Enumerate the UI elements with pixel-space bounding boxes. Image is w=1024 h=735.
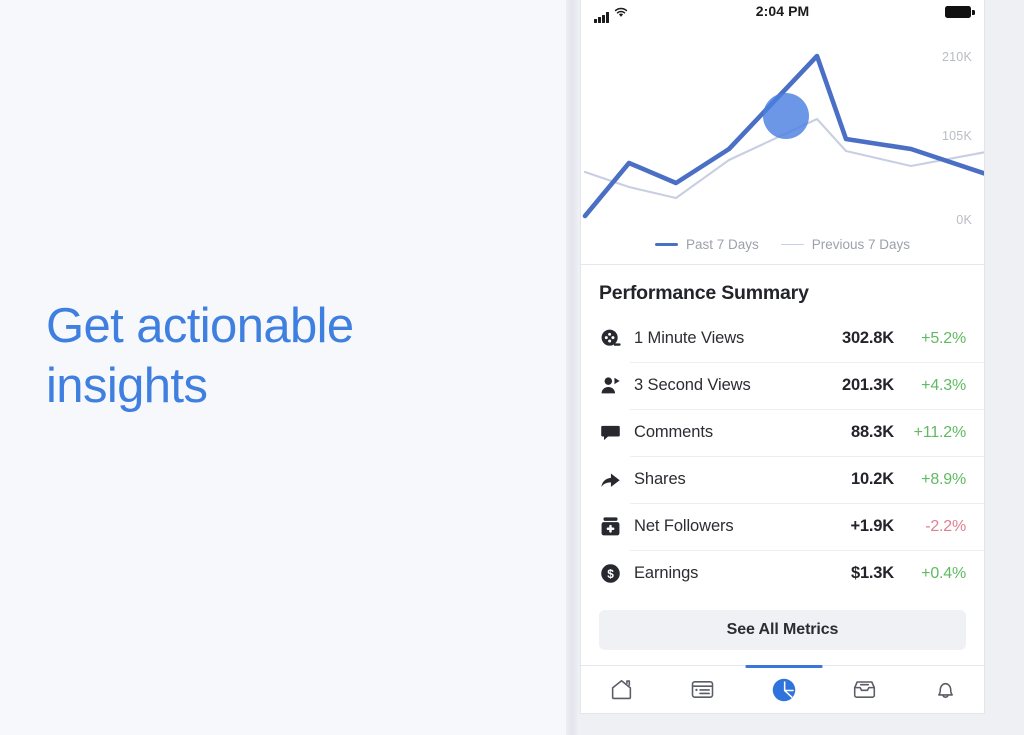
battery-full-icon [945,6,971,18]
chart-point-marker [763,93,809,139]
legend-swatch-past-icon [655,243,678,247]
status-bar-time: 2:04 PM [581,3,984,19]
chart-ylabel-bottom: 0K [956,213,972,227]
person-play-icon [599,375,621,397]
panel-divider [566,0,580,735]
bell-icon [933,677,958,702]
status-bar: 2:04 PM [581,0,984,24]
share-arrow-icon [599,469,621,491]
legend-label-past: Past 7 Days [686,237,759,252]
chart-plot [581,24,985,239]
metric-delta: +11.2% [904,424,966,442]
add-follower-icon [599,516,621,538]
news-feed-icon [690,677,715,702]
phone-preview-panel: 2:04 PM 210K 105K 0K [580,0,1024,735]
chart-legend: Past 7 Days Previous 7 Days [581,237,984,252]
metric-value: 302.8K [822,329,894,348]
legend-item-past[interactable]: Past 7 Days [655,237,759,252]
table-row[interactable]: Shares 10.2K +8.9% [599,456,966,503]
see-all-metrics-button[interactable]: See All Metrics [599,610,966,650]
metric-label: Net Followers [634,517,822,536]
metric-label: 3 Second Views [634,376,822,395]
legend-swatch-previous-icon [781,244,804,246]
nav-notifications[interactable] [905,666,985,714]
insights-icon [771,677,797,703]
metric-delta: +0.4% [904,565,966,583]
comment-icon [599,422,621,444]
metric-label: Comments [634,423,822,442]
metric-value: 10.2K [822,470,894,489]
metric-delta: +8.9% [904,471,966,489]
metric-value: $1.3K [822,564,894,583]
metric-delta: +4.3% [904,377,966,395]
nav-home[interactable] [581,666,662,714]
legend-item-previous[interactable]: Previous 7 Days [781,237,910,252]
screenshot-root: Get actionable insights 2:04 PM [0,0,1024,735]
nav-pages[interactable] [662,666,743,714]
bottom-navigation-bar [581,665,985,713]
page-title: Get actionable insights [46,296,486,416]
table-row[interactable]: 1 Minute Views 302.8K +5.2% [599,315,966,362]
table-row[interactable]: 3 Second Views 201.3K +4.3% [599,362,966,409]
see-all-metrics-container: See All Metrics [581,597,984,650]
insights-chart: 210K 105K 0K Past 7 Days Previous 7 Days [581,24,984,264]
legend-label-previous: Previous 7 Days [812,237,910,252]
chart-ylabel-middle: 105K [942,129,972,143]
metric-label: 1 Minute Views [634,329,822,348]
chart-ylabel-top: 210K [942,50,972,64]
nav-inbox[interactable] [824,666,905,714]
metric-delta: -2.2% [904,518,966,536]
phone-screen: 2:04 PM 210K 105K 0K [580,0,985,714]
home-icon [609,677,634,702]
table-row[interactable]: $ Earnings $1.3K +0.4% [599,550,966,597]
film-reel-icon [599,328,621,350]
inbox-icon [852,677,877,702]
metric-value: 88.3K [822,423,894,442]
metric-value: 201.3K [822,376,894,395]
table-row[interactable]: Comments 88.3K +11.2% [599,409,966,456]
metric-label: Earnings [634,564,822,583]
dollar-circle-icon: $ [599,563,621,585]
metric-list: 1 Minute Views 302.8K +5.2% 3 Seco [581,315,984,597]
metric-value: +1.9K [822,517,894,536]
table-row[interactable]: Net Followers +1.9K -2.2% [599,503,966,550]
marketing-panel: Get actionable insights [0,0,566,735]
performance-summary-section: Performance Summary [581,265,984,650]
metric-label: Shares [634,470,822,489]
performance-summary-title: Performance Summary [581,265,984,315]
svg-text:$: $ [607,567,614,581]
metric-delta: +5.2% [904,330,966,348]
nav-insights[interactable] [743,666,824,714]
